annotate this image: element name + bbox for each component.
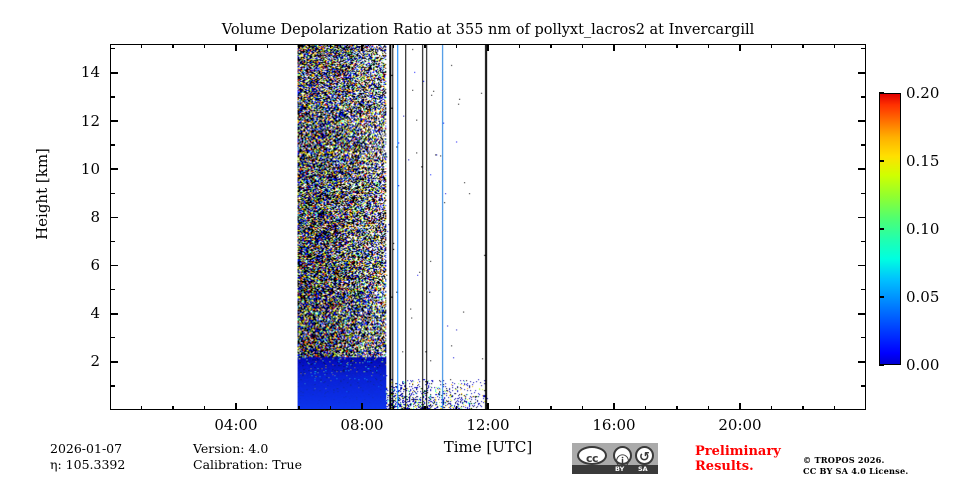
y-tick-minor (111, 385, 115, 386)
x-tick-minor-top (204, 44, 205, 48)
x-tick-minor-top (330, 44, 331, 48)
y-tick-label: 6 (58, 258, 100, 273)
colorbar-tick-label: 0.10 (906, 222, 960, 237)
x-tick-minor-top (771, 44, 772, 48)
y-tick-major (111, 72, 118, 74)
y-tick-label: 4 (58, 306, 100, 321)
colorbar-tick-label: 0.05 (906, 290, 960, 305)
y-tick-major (111, 120, 118, 122)
x-tick-minor-top (267, 44, 268, 48)
x-tick-minor-top (834, 44, 835, 48)
colorbar-tick (879, 296, 884, 297)
y-tick-label: 14 (58, 65, 100, 80)
x-tick-label: 12:00 (448, 418, 528, 433)
x-tick-minor (172, 406, 173, 410)
y-tick-label: 8 (58, 210, 100, 225)
footer-version: Version: 4.0 (193, 441, 268, 456)
y-tick-minor-right (861, 144, 865, 145)
y-tick-minor (111, 144, 115, 145)
colorbar-tick (879, 160, 884, 161)
copyright-notice: © TROPOS 2026. CC BY SA 4.0 License. (803, 455, 908, 477)
x-tick-major-top (613, 44, 615, 51)
footer-calibration: Calibration: True (193, 457, 302, 472)
x-tick-minor (582, 406, 583, 410)
cc-badge-icons: cc ⓘ ↺ (572, 444, 658, 466)
cc-logo-icon: cc (577, 446, 607, 465)
x-tick-minor-top (456, 44, 457, 48)
x-tick-minor-top (645, 44, 646, 48)
x-tick-label: 16:00 (574, 418, 654, 433)
x-tick-minor (141, 406, 142, 410)
x-tick-minor (298, 406, 299, 410)
x-tick-minor-top (708, 44, 709, 48)
x-tick-minor-top (519, 44, 520, 48)
x-tick-major (487, 403, 489, 410)
colorbar-tick (879, 228, 884, 229)
cc-sa-icon: ↺ (635, 446, 654, 465)
x-tick-minor-top (550, 44, 551, 48)
x-tick-minor (802, 406, 803, 410)
y-tick-major-right (858, 313, 865, 315)
y-tick-minor-right (861, 385, 865, 386)
y-tick-major (111, 168, 118, 170)
cc-logo-glyph: cc (579, 452, 605, 465)
x-tick-minor (645, 406, 646, 410)
x-tick-minor (676, 406, 677, 410)
x-tick-minor (393, 406, 394, 410)
y-tick-major-right (858, 72, 865, 74)
y-tick-minor (111, 193, 115, 194)
cc-by-icon: ⓘ (613, 446, 632, 465)
x-tick-label: 20:00 (700, 418, 780, 433)
cc-license-badge-icon: cc ⓘ ↺ BY SA (572, 443, 658, 474)
colorbar-tick-label: 0.00 (906, 358, 960, 373)
colorbar-tick-label: 0.15 (906, 154, 960, 169)
x-tick-minor-top (676, 44, 677, 48)
x-tick-minor (708, 406, 709, 410)
x-tick-label: 08:00 (322, 418, 402, 433)
y-tick-minor (111, 337, 115, 338)
y-tick-label: 2 (58, 354, 100, 369)
x-tick-minor (267, 406, 268, 410)
y-tick-major (111, 313, 118, 315)
x-tick-minor (204, 406, 205, 410)
y-tick-minor (111, 96, 115, 97)
y-tick-major (111, 265, 118, 267)
x-tick-minor-top (582, 44, 583, 48)
preliminary-results-note: Preliminary Results. (695, 444, 785, 474)
x-tick-major (739, 403, 741, 410)
x-tick-minor (771, 406, 772, 410)
x-tick-label: 04:00 (196, 418, 276, 433)
x-tick-minor (330, 406, 331, 410)
footer-eta: η: 105.3392 (50, 457, 125, 472)
page-title: Volume Depolarization Ratio at 355 nm of… (110, 22, 866, 39)
y-tick-major (111, 217, 118, 219)
y-tick-major-right (858, 265, 865, 267)
colorbar-tick (879, 364, 884, 365)
cc-by-label: BY (615, 465, 624, 473)
y-tick-major-right (858, 120, 865, 122)
y-tick-minor-right (861, 48, 865, 49)
x-tick-minor (424, 406, 425, 410)
y-tick-major-right (858, 217, 865, 219)
x-tick-minor (456, 406, 457, 410)
y-tick-label: 10 (58, 162, 100, 177)
y-tick-minor-right (861, 289, 865, 290)
x-tick-major (361, 403, 363, 410)
plot-area (110, 44, 866, 410)
cc-sa-glyph: ↺ (637, 450, 652, 465)
y-tick-label: 12 (58, 114, 100, 129)
x-tick-major-top (487, 44, 489, 51)
x-tick-major-top (235, 44, 237, 51)
x-tick-minor-top (393, 44, 394, 48)
x-tick-minor-top (141, 44, 142, 48)
heatmap-data-layer (111, 45, 865, 409)
x-tick-minor (550, 406, 551, 410)
x-tick-minor-top (172, 44, 173, 48)
x-tick-minor-top (424, 44, 425, 48)
x-tick-minor-top (802, 44, 803, 48)
x-tick-major-top (739, 44, 741, 51)
y-tick-minor-right (861, 241, 865, 242)
copyright-line-2: CC BY SA 4.0 License. (803, 466, 908, 477)
y-tick-major (111, 361, 118, 363)
colorbar-tick-label: 0.20 (906, 86, 960, 101)
x-tick-minor-top (298, 44, 299, 48)
x-tick-major (613, 403, 615, 410)
y-tick-major-right (858, 361, 865, 363)
copyright-line-1: © TROPOS 2026. (803, 455, 908, 466)
x-tick-minor (834, 406, 835, 410)
y-axis-title: Height [km] (33, 114, 51, 274)
y-tick-minor-right (861, 96, 865, 97)
footer-date: 2026-01-07 (50, 441, 122, 456)
y-tick-minor-right (861, 337, 865, 338)
cc-sa-label: SA (638, 465, 648, 473)
y-tick-minor (111, 48, 115, 49)
y-tick-minor (111, 289, 115, 290)
colorbar-tick (879, 92, 884, 93)
y-tick-minor-right (861, 193, 865, 194)
x-tick-major (235, 403, 237, 410)
x-tick-major-top (361, 44, 363, 51)
y-tick-minor (111, 241, 115, 242)
y-tick-major-right (858, 168, 865, 170)
figure-canvas: Volume Depolarization Ratio at 355 nm of… (0, 0, 960, 480)
x-tick-minor (519, 406, 520, 410)
